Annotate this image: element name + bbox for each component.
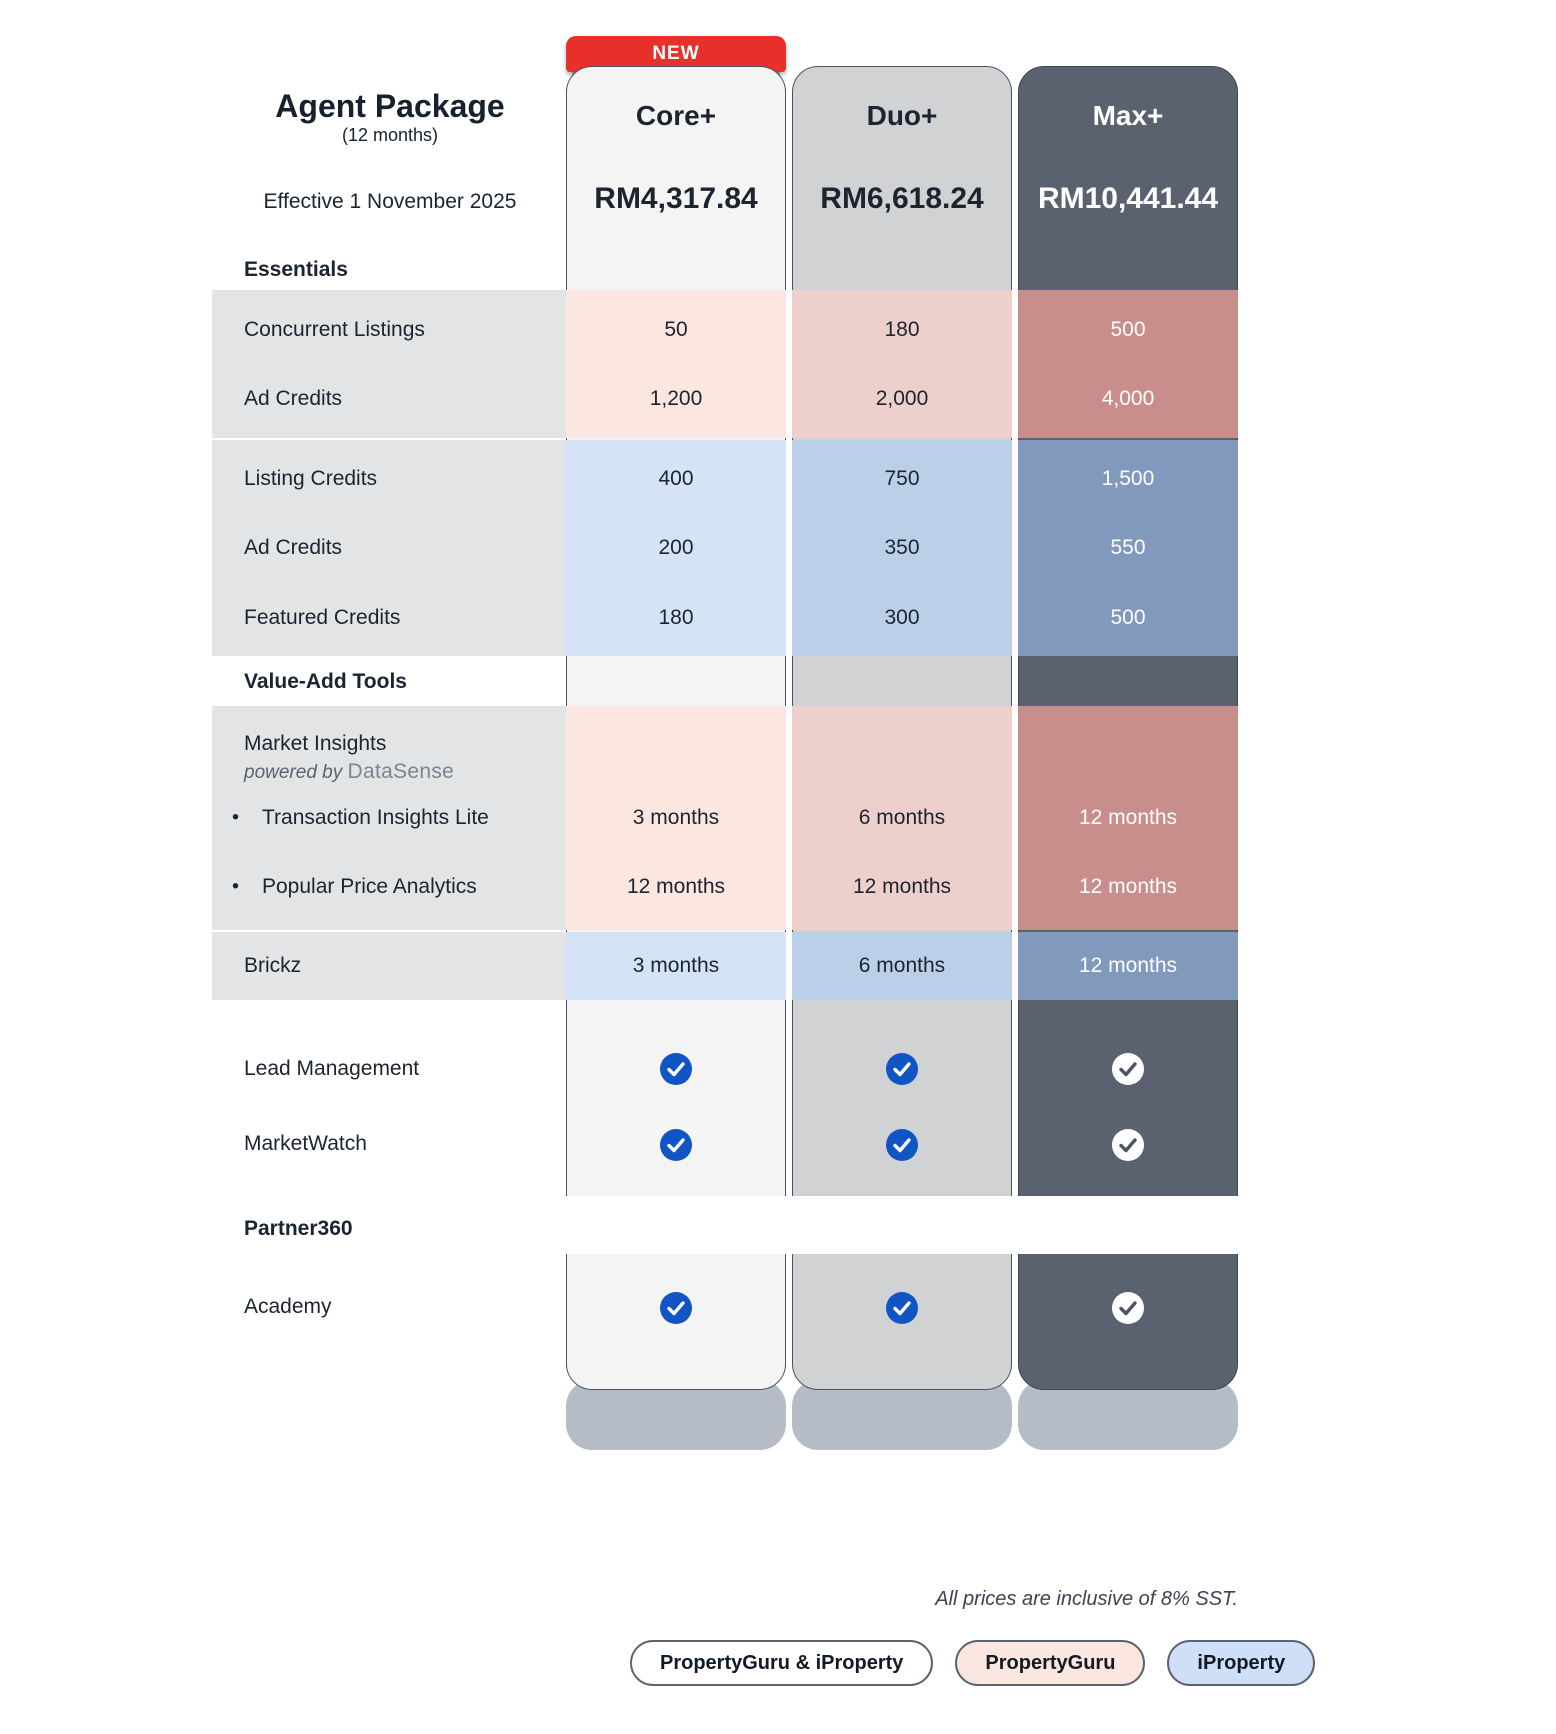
cell-popular-price-max: 12 months — [1018, 864, 1238, 910]
row-label-academy: Academy — [212, 1283, 566, 1331]
row-label-brickz: Brickz — [212, 942, 566, 990]
cell-brickz-max: 12 months — [1018, 942, 1238, 990]
cell-transaction-insights-max: 12 months — [1018, 795, 1238, 841]
market-insights-powered-by: powered by DataSense — [212, 760, 566, 784]
market-insights-title: Market Insights — [212, 732, 566, 756]
check-icon-marketwatch-duo — [885, 1128, 919, 1162]
package-name-core: Core+ — [566, 100, 786, 132]
band-duo-partner360 — [792, 1196, 1012, 1254]
cell-ad-credits-ip-core: 200 — [566, 524, 786, 572]
package-price-core: RM4,317.84 — [566, 182, 786, 216]
package-name-duo: Duo+ — [792, 100, 1012, 132]
cell-concurrent-listings-core: 50 — [566, 306, 786, 354]
cell-concurrent-listings-duo: 180 — [792, 306, 1012, 354]
check-icon-academy-max — [1111, 1291, 1145, 1325]
core-card-shadow — [566, 1380, 786, 1450]
cell-listing-credits-core: 400 — [566, 455, 786, 503]
legend: PropertyGuru & iProperty PropertyGuru iP… — [630, 1640, 1315, 1686]
cell-ad-credits-pg-max: 4,000 — [1018, 375, 1238, 423]
check-icon-academy-core — [659, 1291, 693, 1325]
package-name-max: Max+ — [1018, 100, 1238, 132]
band-core-partner360 — [566, 1196, 786, 1254]
row-label-concurrent-listings: Concurrent Listings — [212, 306, 566, 354]
check-icon-lead-management-duo — [885, 1052, 919, 1086]
pricing-comparison-sheet: NEW Agent Package (12 months) Effective … — [0, 0, 1556, 1734]
cell-ad-credits-ip-max: 550 — [1018, 524, 1238, 572]
check-icon-lead-management-core — [659, 1052, 693, 1086]
cell-listing-credits-max: 1,500 — [1018, 455, 1238, 503]
cell-brickz-duo: 6 months — [792, 942, 1012, 990]
cell-transaction-insights-duo: 6 months — [792, 795, 1012, 841]
legend-pill-both[interactable]: PropertyGuru & iProperty — [630, 1640, 933, 1686]
row-label-listing-credits: Listing Credits — [212, 455, 566, 503]
band-max-partner360 — [1018, 1196, 1238, 1254]
row-label-partner360: Partner360 — [212, 1205, 566, 1253]
check-icon-marketwatch-core — [659, 1128, 693, 1162]
datasense-brand: DataSense — [348, 760, 455, 783]
section-title-essentials: Essentials — [212, 250, 566, 290]
row-label-ad-credits-ip: Ad Credits — [212, 524, 566, 572]
cell-brickz-core: 3 months — [566, 942, 786, 990]
cell-popular-price-duo: 12 months — [792, 864, 1012, 910]
legend-pill-iproperty[interactable]: iProperty — [1167, 1640, 1315, 1686]
cell-concurrent-listings-max: 500 — [1018, 306, 1238, 354]
check-icon-lead-management-max — [1111, 1052, 1145, 1086]
sst-note: All prices are inclusive of 8% SST. — [700, 1588, 1238, 1611]
cell-featured-credits-duo: 300 — [792, 594, 1012, 642]
row-label-featured-credits: Featured Credits — [212, 594, 566, 642]
cell-transaction-insights-core: 3 months — [566, 795, 786, 841]
duo-card-shadow — [792, 1380, 1012, 1450]
cell-featured-credits-core: 180 — [566, 594, 786, 642]
legend-pill-propertyguru[interactable]: PropertyGuru — [955, 1640, 1145, 1686]
cell-ad-credits-ip-duo: 350 — [792, 524, 1012, 572]
row-label-marketwatch: MarketWatch — [212, 1120, 566, 1168]
cell-featured-credits-max: 500 — [1018, 594, 1238, 642]
row-label-lead-management: Lead Management — [212, 1045, 566, 1093]
row-label-popular-price: Popular Price Analytics — [212, 864, 566, 910]
package-price-duo: RM6,618.24 — [792, 182, 1012, 216]
check-icon-academy-duo — [885, 1291, 919, 1325]
row-label-ad-credits-pg: Ad Credits — [212, 375, 566, 423]
powered-by-text: powered by — [244, 762, 342, 783]
cell-ad-credits-pg-duo: 2,000 — [792, 375, 1012, 423]
cell-ad-credits-pg-core: 1,200 — [566, 375, 786, 423]
row-label-transaction-insights: Transaction Insights Lite — [212, 795, 566, 841]
cell-popular-price-core: 12 months — [566, 864, 786, 910]
cell-listing-credits-duo: 750 — [792, 455, 1012, 503]
check-icon-marketwatch-max — [1111, 1128, 1145, 1162]
max-card-shadow — [1018, 1380, 1238, 1450]
package-price-max: RM10,441.44 — [1018, 182, 1238, 216]
section-title-value-add: Value-Add Tools — [212, 660, 566, 704]
